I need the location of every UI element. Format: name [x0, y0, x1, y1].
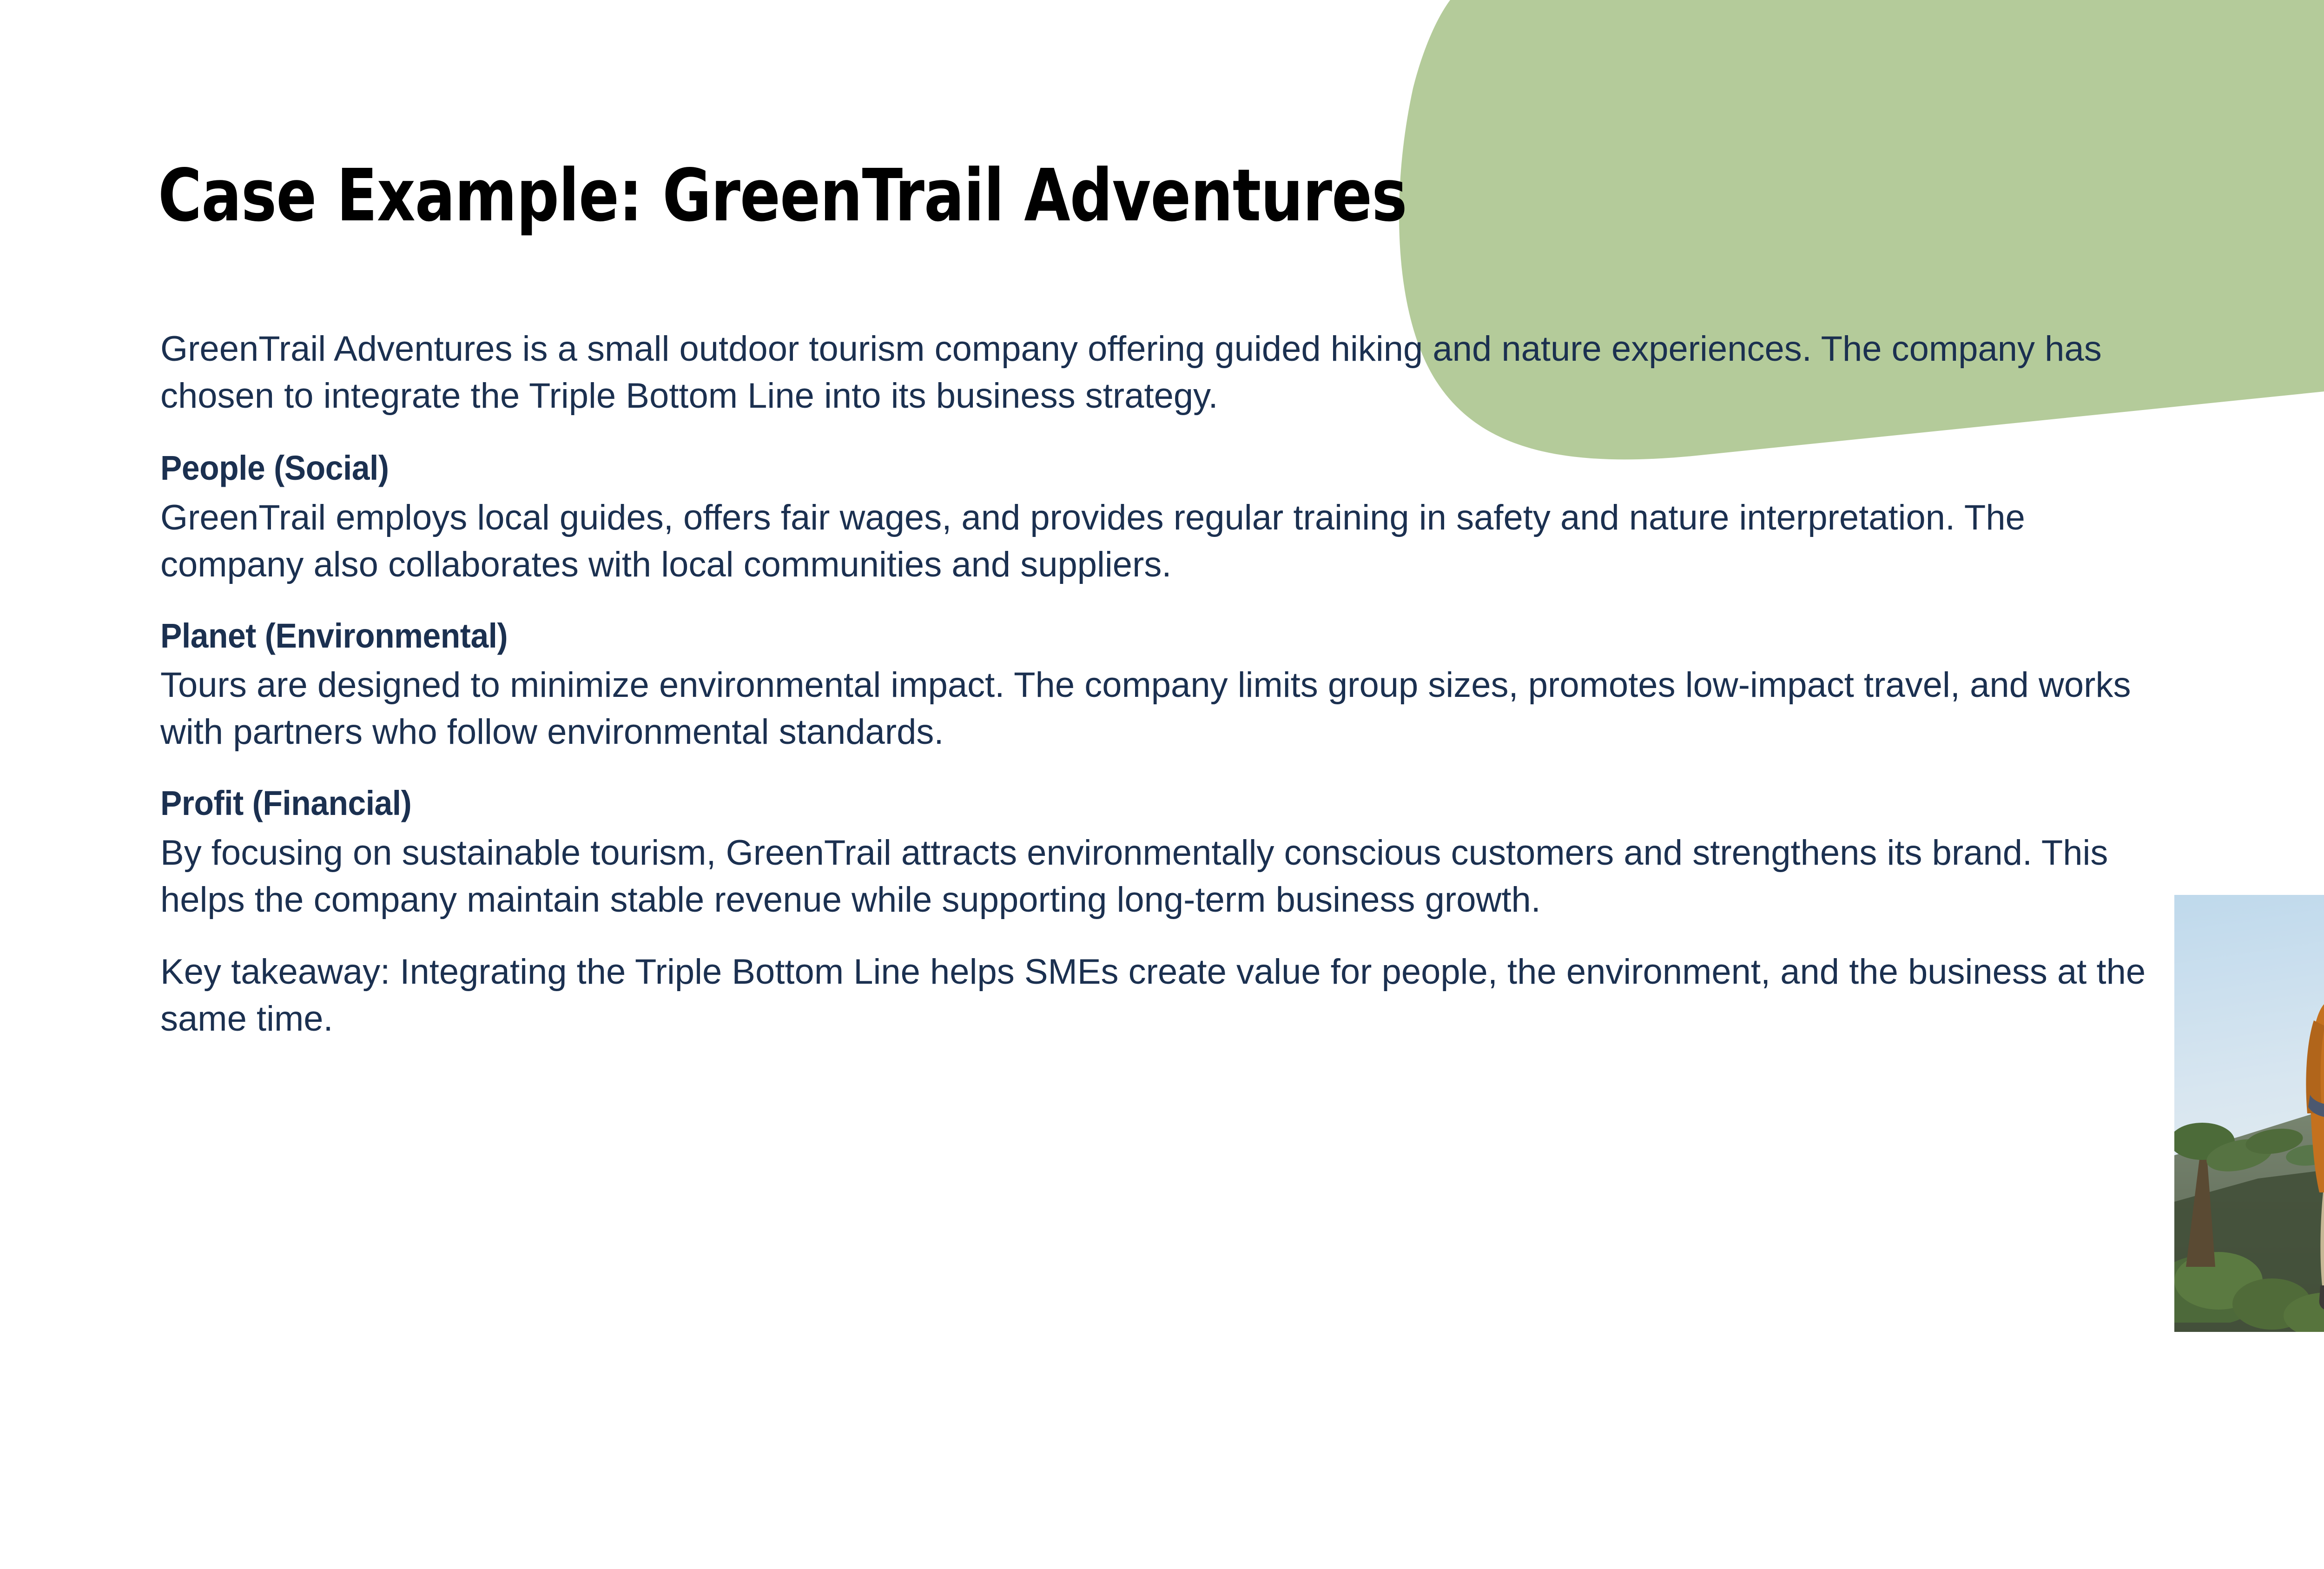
key-takeaway: Key takeaway: Integrating the Triple Bot… — [160, 948, 2173, 1042]
hikers-photo — [2174, 895, 2324, 1332]
slide-canvas: Case Example: GreenTrail Adventures Gree… — [0, 0, 2324, 1569]
section-heading-people: People (Social) — [160, 445, 2052, 491]
intro-paragraph: GreenTrail Adventures is a small outdoor… — [160, 325, 2173, 419]
section-body-planet: Tours are designed to minimize environme… — [160, 662, 2173, 755]
section-heading-planet: Planet (Environmental) — [160, 613, 2052, 659]
section-heading-profit: Profit (Financial) — [160, 781, 2052, 826]
section-planet: Planet (Environmental) Tours are designe… — [160, 613, 2173, 756]
section-profit: Profit (Financial) By focusing on sustai… — [160, 781, 2173, 923]
page-title: Case Example: GreenTrail Adventures — [158, 153, 1407, 238]
section-body-profit: By focusing on sustainable tourism, Gree… — [160, 829, 2173, 923]
slide-body: GreenTrail Adventures is a small outdoor… — [160, 325, 2173, 1042]
slide-footer: NATURE-BASED WELLNESS TOURISM Discover n… — [0, 1392, 2324, 1569]
section-body-people: GreenTrail employs local guides, offers … — [160, 494, 2173, 588]
section-people: People (Social) GreenTrail employs local… — [160, 445, 2173, 588]
